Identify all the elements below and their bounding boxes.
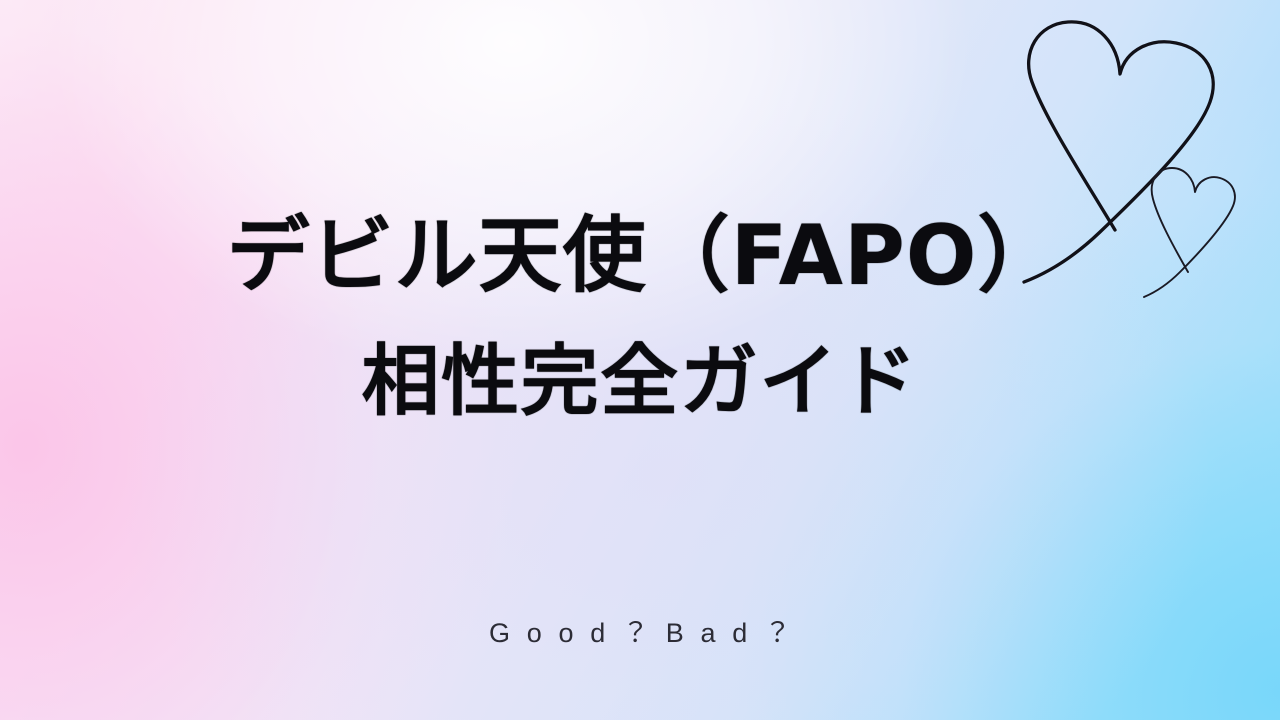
page-title: デビル天使（FAPO） 相性完全ガイド — [0, 214, 1280, 421]
title-line-secondary: 相性完全ガイド — [0, 343, 1280, 421]
text-stack: デビル天使（FAPO） 相性完全ガイド Good？Bad？ — [0, 0, 1280, 720]
banner-canvas: デビル天使（FAPO） 相性完全ガイド Good？Bad？ — [0, 0, 1280, 720]
title-line-primary: デビル天使（FAPO） — [0, 214, 1280, 297]
subtitle-text: Good？Bad？ — [0, 617, 1280, 649]
